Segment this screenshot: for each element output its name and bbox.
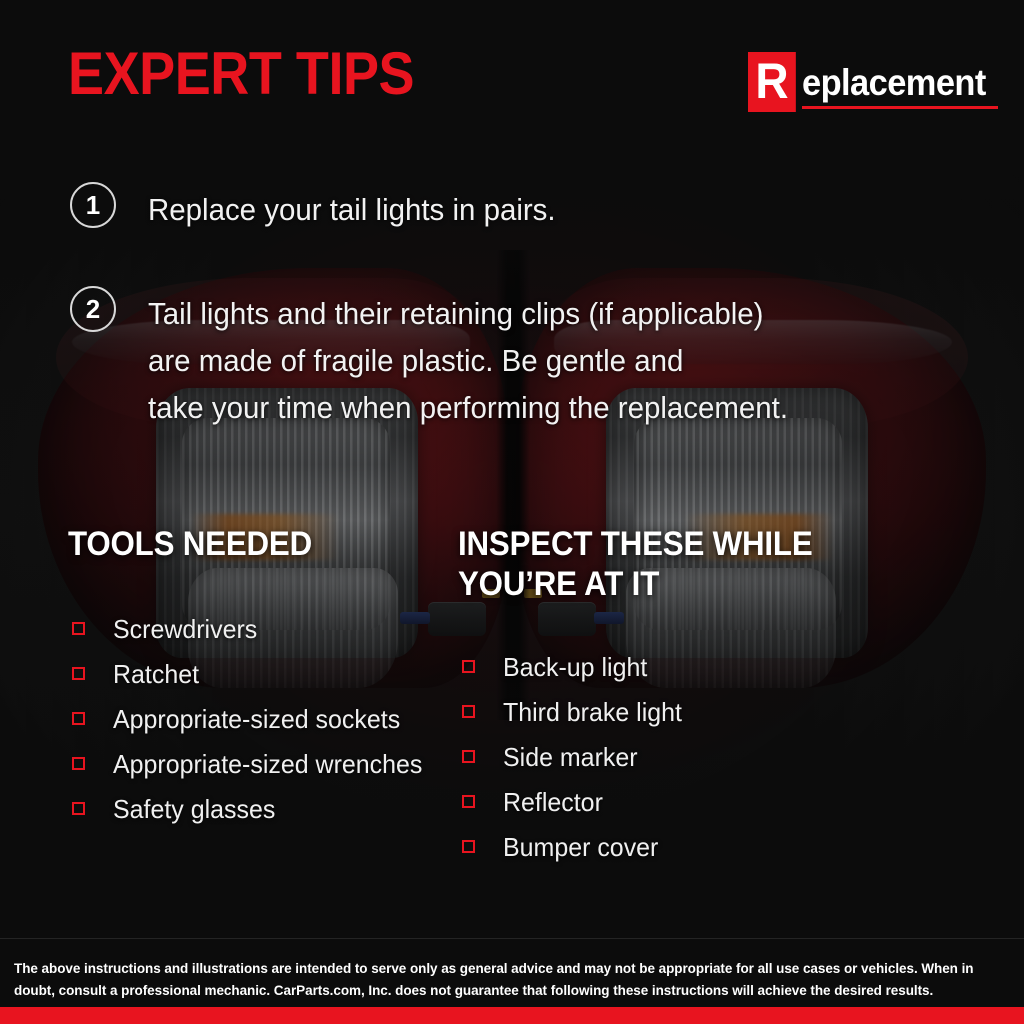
list-item: Appropriate-sized wrenches <box>68 741 448 786</box>
replacement-logo: R eplacement <box>748 52 1000 112</box>
list-item-label: Bumper cover <box>503 834 658 860</box>
list-item: Ratchet <box>68 651 448 696</box>
tip-text: Tail lights and their retaining clips (i… <box>148 290 788 431</box>
checkbox-icon[interactable] <box>72 712 85 725</box>
logo-wordmark-wrap: eplacement <box>802 52 1000 109</box>
checkbox-icon[interactable] <box>462 840 475 853</box>
list-item-label: Ratchet <box>113 661 199 687</box>
expert-tip-1: 1 Replace your tail lights in pairs. <box>70 182 577 233</box>
logo-initial-badge: R <box>748 52 796 112</box>
checkbox-icon[interactable] <box>462 795 475 808</box>
list-item: Back-up light <box>458 644 858 689</box>
tip-number-badge: 2 <box>70 286 116 332</box>
logo-wordmark: eplacement <box>802 64 986 101</box>
checkbox-icon[interactable] <box>72 802 85 815</box>
list-item-label: Side marker <box>503 744 638 770</box>
tip-text: Replace your tail lights in pairs. <box>148 186 556 233</box>
list-item: Third brake light <box>458 689 858 734</box>
list-item: Bumper cover <box>458 824 858 869</box>
list-item-label: Appropriate-sized sockets <box>113 706 400 732</box>
checkbox-icon[interactable] <box>462 660 475 673</box>
tools-needed-title: TOOLS NEEDED <box>68 524 418 564</box>
page-title: EXPERT TIPS <box>68 44 414 104</box>
tools-needed-list: Screwdrivers Ratchet Appropriate-sized s… <box>68 606 448 831</box>
list-item-label: Reflector <box>503 789 603 815</box>
checkbox-icon[interactable] <box>72 622 85 635</box>
list-item-label: Back-up light <box>503 654 647 680</box>
list-item-label: Appropriate-sized wrenches <box>113 751 422 777</box>
inspect-these-column: INSPECT THESE WHILE YOU’RE AT IT Back-up… <box>458 524 858 869</box>
tools-needed-column: TOOLS NEEDED Screwdrivers Ratchet Approp… <box>68 524 448 831</box>
footer-disclaimer: The above instructions and illustrations… <box>14 958 1010 1002</box>
list-item-label: Safety glasses <box>113 796 275 822</box>
list-item: Appropriate-sized sockets <box>68 696 448 741</box>
logo-underline <box>802 106 998 109</box>
list-item-label: Third brake light <box>503 699 682 725</box>
checkbox-icon[interactable] <box>462 750 475 763</box>
footer-divider <box>0 938 1024 939</box>
list-item: Reflector <box>458 779 858 824</box>
expert-tip-2: 2 Tail lights and their retaining clips … <box>70 286 822 431</box>
content-layer: EXPERT TIPS R eplacement 1 Replace your … <box>0 0 1024 1024</box>
checkbox-icon[interactable] <box>462 705 475 718</box>
list-item-label: Screwdrivers <box>113 616 257 642</box>
bottom-accent-bar <box>0 1007 1024 1024</box>
inspect-these-title: INSPECT THESE WHILE YOU’RE AT IT <box>458 524 826 604</box>
checkbox-icon[interactable] <box>72 667 85 680</box>
checkbox-icon[interactable] <box>72 757 85 770</box>
list-item: Safety glasses <box>68 786 448 831</box>
tip-number-badge: 1 <box>70 182 116 228</box>
expert-tips-infographic: EXPERT TIPS R eplacement 1 Replace your … <box>0 0 1024 1024</box>
inspect-these-list: Back-up light Third brake light Side mar… <box>458 644 858 869</box>
list-item: Screwdrivers <box>68 606 448 651</box>
list-item: Side marker <box>458 734 858 779</box>
